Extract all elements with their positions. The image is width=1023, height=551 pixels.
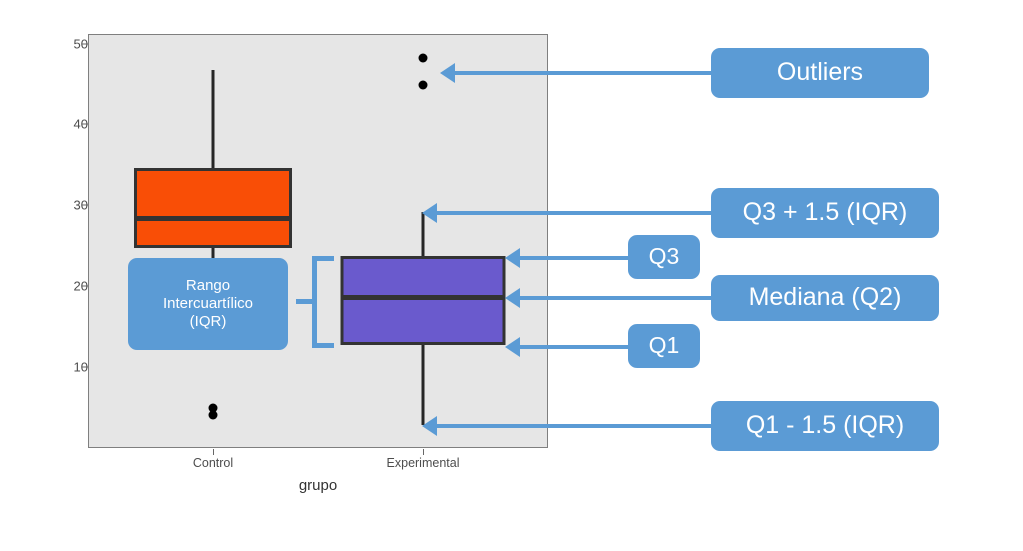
q1-arrowhead (505, 337, 520, 357)
outliers-callout[interactable]: Outliers (711, 48, 929, 98)
lower-fence-arrowhead (422, 416, 437, 436)
q1-leader-line (520, 345, 630, 349)
control-outlier-point (209, 411, 218, 420)
experimental-lower-whisker (422, 345, 425, 425)
y-tick-mark-10 (82, 367, 88, 368)
upper-fence-callout[interactable]: Q3 + 1.5 (IQR) (711, 188, 939, 238)
y-tick-mark-50 (82, 44, 88, 45)
iqr-callout-line2: Intercuartílico (163, 295, 253, 313)
experimental-outlier-point (419, 54, 428, 63)
x-tick-label-experimental: Experimental (387, 456, 460, 470)
median-callout[interactable]: Mediana (Q2) (711, 275, 939, 321)
lower-fence-callout[interactable]: Q1 - 1.5 (IQR) (711, 401, 939, 451)
y-tick-mark-20 (82, 286, 88, 287)
iqr-callout-line3: (IQR) (190, 313, 227, 331)
median-arrowhead (505, 288, 520, 308)
x-tick-mark-experimental (423, 449, 424, 455)
q1-callout[interactable]: Q1 (628, 324, 700, 368)
lower-fence-leader-line (437, 424, 713, 428)
y-tick-mark-30 (82, 205, 88, 206)
upper-fence-leader-line (437, 211, 713, 215)
q3-leader-line (520, 256, 630, 260)
iqr-bracket-stem (296, 299, 314, 304)
y-axis: 50 40 30 20 10 (48, 0, 88, 500)
q3-arrowhead (505, 248, 520, 268)
q3-callout[interactable]: Q3 (628, 235, 700, 279)
y-tick-mark-40 (82, 124, 88, 125)
experimental-outlier-point (419, 81, 428, 90)
iqr-bracket (312, 256, 334, 348)
iqr-callout[interactable]: Rango Intercuartílico (IQR) (128, 258, 288, 350)
control-upper-whisker (212, 70, 215, 168)
control-box (134, 168, 292, 248)
experimental-box (341, 256, 506, 345)
upper-fence-arrowhead (422, 203, 437, 223)
outliers-arrowhead (440, 63, 455, 83)
median-leader-line (520, 296, 713, 300)
iqr-callout-line1: Rango (186, 277, 230, 295)
experimental-median-line (341, 295, 506, 300)
outliers-leader-line (455, 71, 713, 75)
x-axis-title: grupo (88, 477, 548, 494)
control-median-line (134, 216, 292, 221)
slide-canvas: 50 40 30 20 10 Control Experimental grup… (0, 0, 1023, 551)
x-tick-label-control: Control (193, 456, 233, 470)
x-tick-mark-control (213, 449, 214, 455)
